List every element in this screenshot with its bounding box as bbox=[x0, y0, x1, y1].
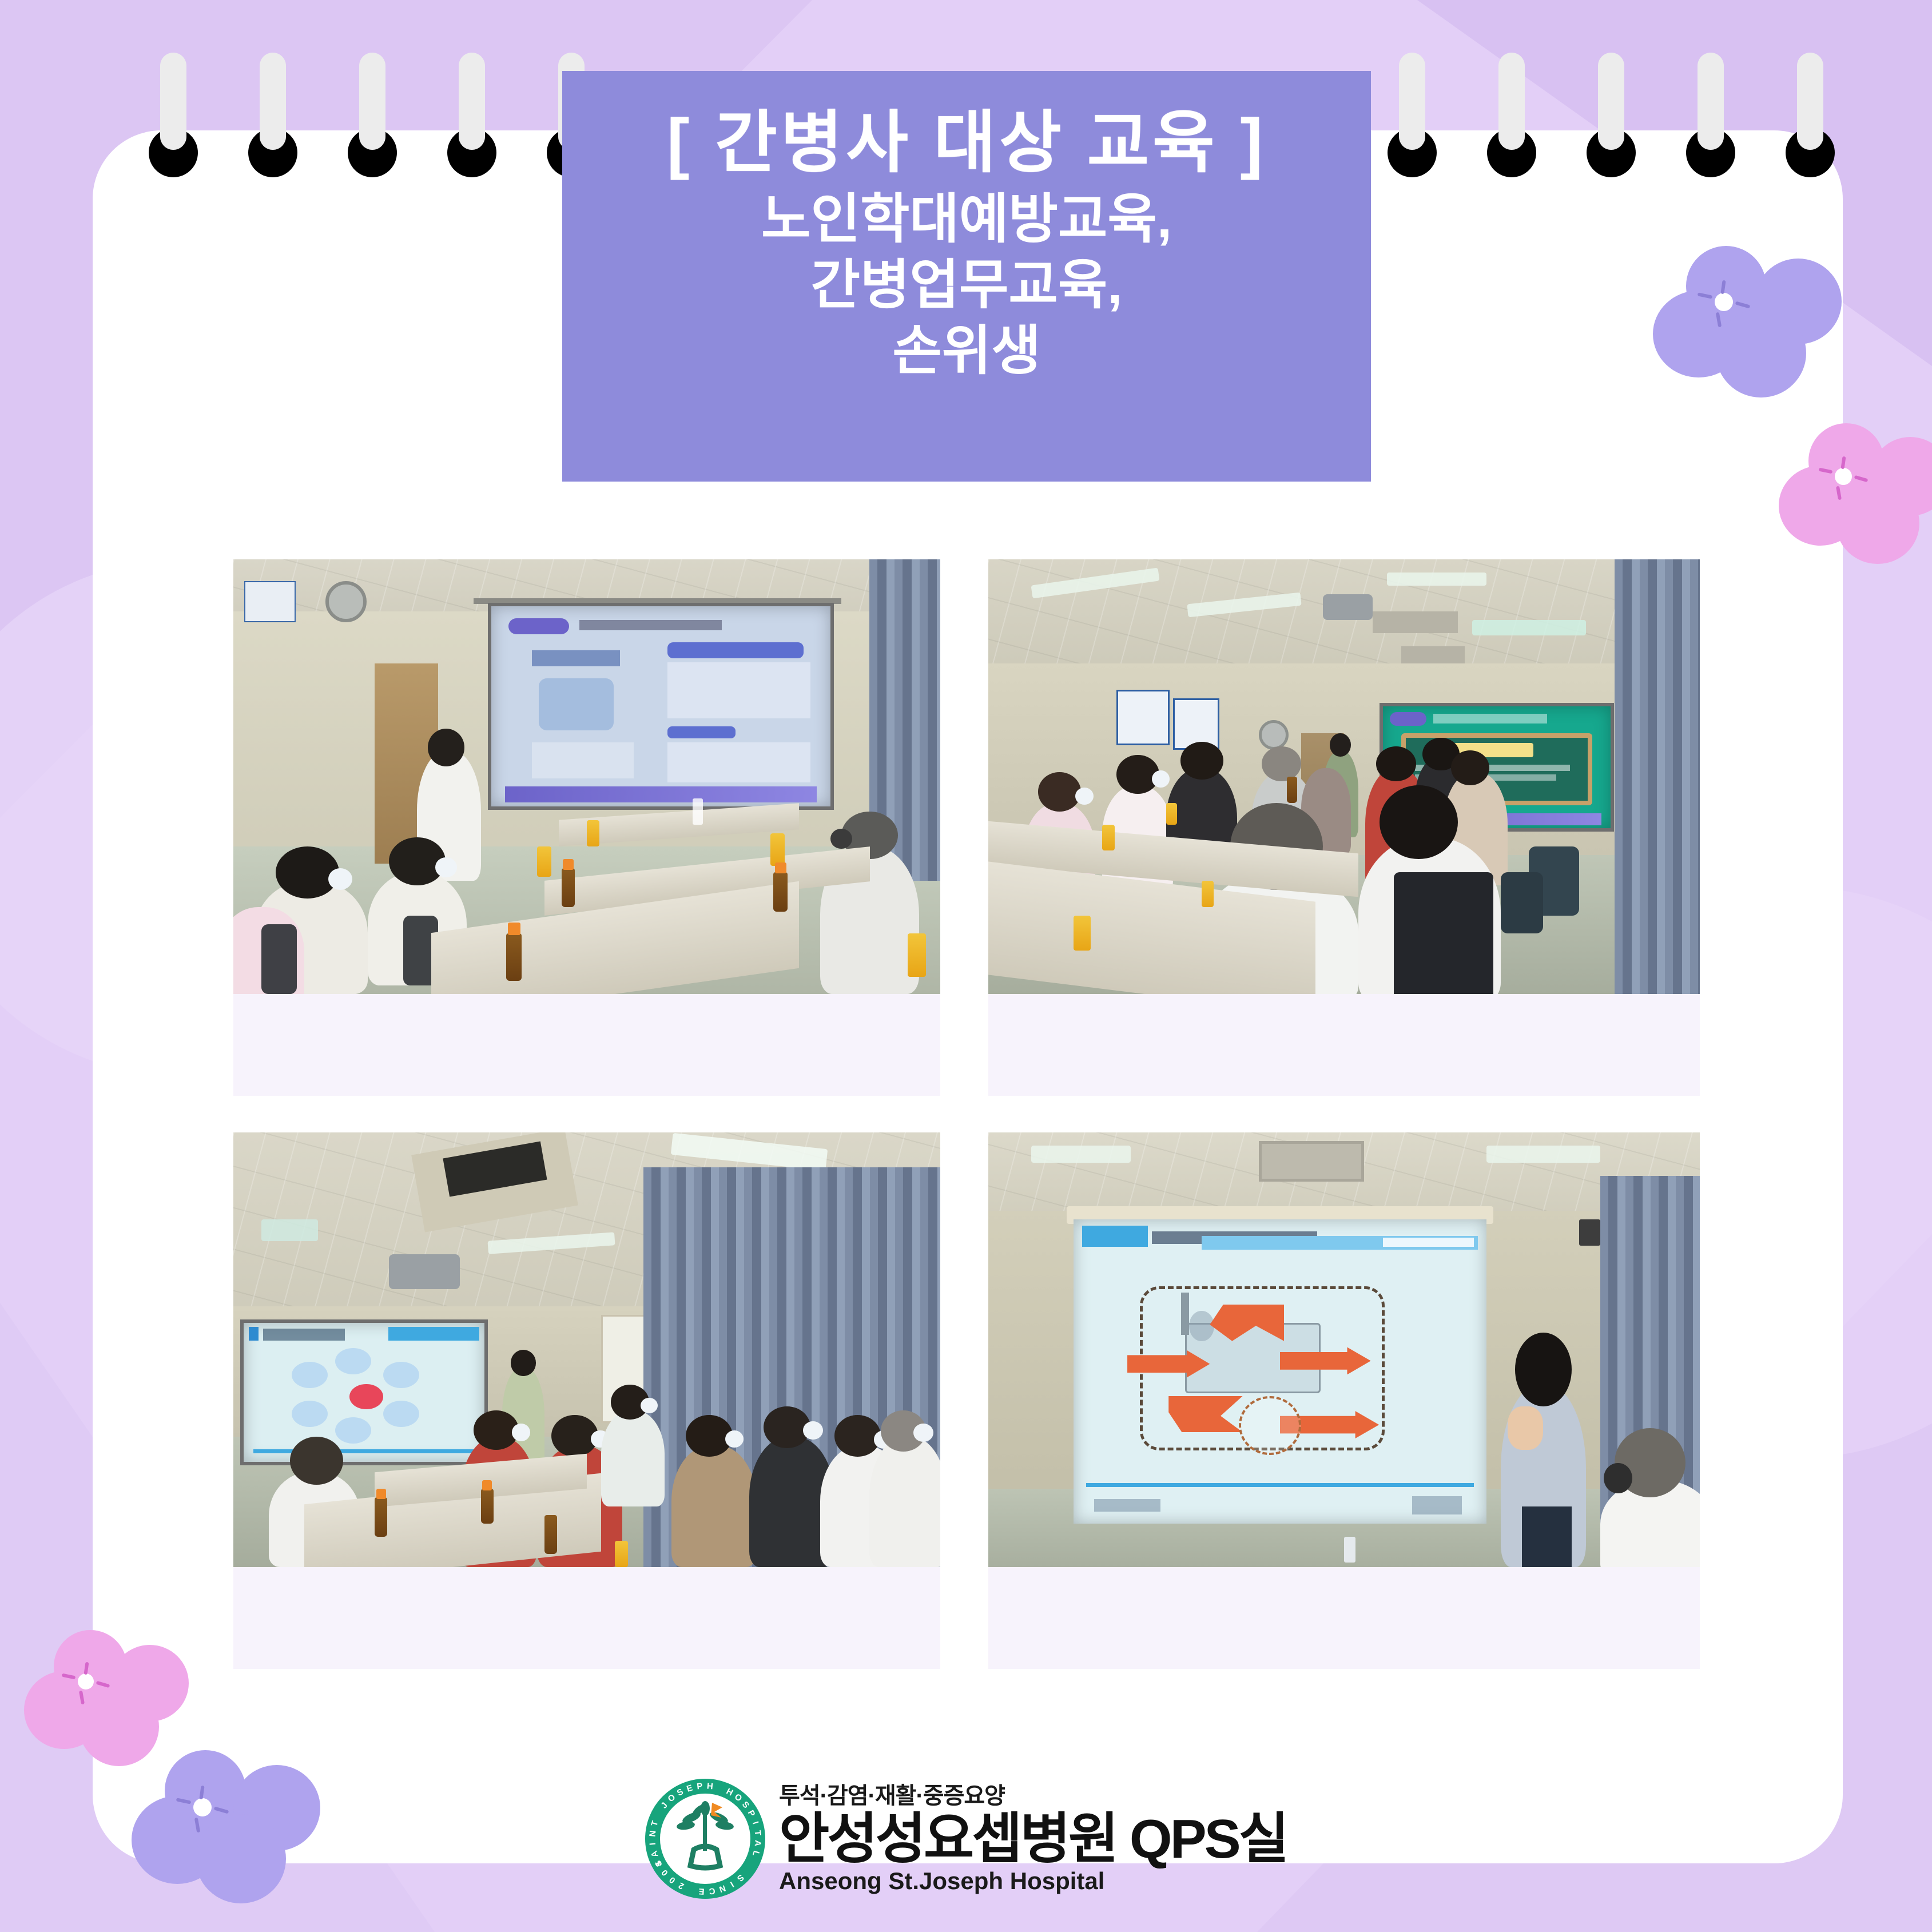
photo-2[interactable] bbox=[988, 559, 1700, 994]
photo-4[interactable] bbox=[988, 1132, 1700, 1567]
emblem-arc-char: C bbox=[709, 1886, 716, 1896]
ring-wire bbox=[459, 53, 485, 150]
emblem-arc-char: 0 bbox=[659, 1867, 670, 1877]
emblem-arc-char: S bbox=[735, 1873, 746, 1883]
ring-wire bbox=[359, 53, 385, 150]
flower-core bbox=[1835, 468, 1852, 485]
footer-hospital-name-en: Anseong St.Joseph Hospital bbox=[779, 1869, 1287, 1893]
title-banner: [ 간병사 대상 교육 ] 노인학대예방교육, 간병업무교육, 손위생 bbox=[562, 71, 1371, 482]
emblem-arc-char: 4 bbox=[654, 1859, 665, 1868]
flower-petal bbox=[1836, 483, 1919, 564]
photo-3-screen bbox=[240, 1319, 487, 1465]
emblem-arc-char: T bbox=[752, 1830, 762, 1836]
banner-subtitle-line-1: 노인학대예방교육, bbox=[761, 186, 1172, 252]
emblem-arc-char: I bbox=[750, 1820, 760, 1826]
ring-wire bbox=[160, 53, 186, 150]
emblem-arc-char: I bbox=[648, 1842, 658, 1846]
poster-root: [ 간병사 대상 교육 ] 노인학대예방교육, 간병업무교육, 손위생 bbox=[0, 0, 1932, 1932]
banner-subtitle: 노인학대예방교육, 간병업무교육, 손위생 bbox=[761, 186, 1172, 383]
emblem-arc-char: N bbox=[718, 1883, 727, 1894]
photo-3[interactable] bbox=[233, 1132, 940, 1567]
emblem-arc-char: P bbox=[697, 1782, 703, 1792]
emblem-arc-char: E bbox=[698, 1886, 705, 1897]
emblem-arc-char: O bbox=[666, 1792, 677, 1804]
ring-wire bbox=[1399, 53, 1425, 150]
photo-4-screen bbox=[1074, 1219, 1486, 1524]
emblem-arc-char: H bbox=[706, 1781, 713, 1791]
emblem-arc-char: J bbox=[659, 1800, 669, 1810]
emblem-arc-char: S bbox=[740, 1800, 751, 1811]
emblem-arc-char: L bbox=[750, 1850, 761, 1858]
banner-subtitle-line-2: 간병업무교육, bbox=[761, 252, 1172, 318]
photo-1-screen bbox=[488, 603, 834, 810]
footer-hospital-name-ko: 안성성요셉병원 QPS실 bbox=[779, 1812, 1287, 1867]
emblem-arc-char: 0 bbox=[667, 1875, 677, 1885]
emblem-arc-char: O bbox=[733, 1792, 744, 1804]
ring-wire bbox=[1698, 53, 1724, 150]
emblem-arc-char: E bbox=[686, 1783, 694, 1794]
flower-petal bbox=[1716, 309, 1806, 397]
emblem-arc-char: P bbox=[746, 1808, 757, 1818]
emblem-arc-char: I bbox=[729, 1879, 736, 1889]
emblem-arc-text: SAINTJOSEPHHOSPITALSINCE2004 bbox=[645, 1779, 765, 1899]
flower-core bbox=[78, 1673, 94, 1689]
ring-wire bbox=[260, 53, 286, 150]
emblem-arc-char: A bbox=[753, 1840, 763, 1847]
banner-title: [ 간병사 대상 교육 ] bbox=[667, 105, 1266, 181]
hospital-emblem-icon: SAINTJOSEPHHOSPITALSINCE2004 bbox=[645, 1779, 765, 1899]
photo-grid bbox=[233, 559, 1700, 1669]
ring-wire bbox=[1797, 53, 1823, 150]
flower-core bbox=[1715, 293, 1733, 311]
footer: SAINTJOSEPHHOSPITALSINCE2004 투석·감염·재활·중증… bbox=[0, 1744, 1932, 1932]
footer-tagline: 투석·감염·재활·중증요양 bbox=[779, 1784, 1287, 1807]
banner-subtitle-line-3: 손위생 bbox=[761, 318, 1172, 384]
emblem-arc-char: H bbox=[725, 1786, 734, 1798]
flower-top-right-purple bbox=[1653, 246, 1842, 423]
ring-wire bbox=[1598, 53, 1624, 150]
photo-1[interactable] bbox=[233, 559, 940, 994]
emblem-arc-char: 2 bbox=[677, 1881, 686, 1891]
emblem-arc-char: S bbox=[675, 1787, 685, 1798]
emblem-arc-char: T bbox=[649, 1820, 660, 1828]
emblem-arc-char: A bbox=[649, 1850, 660, 1858]
emblem-arc-char: N bbox=[647, 1830, 658, 1837]
ring-wire bbox=[1498, 53, 1525, 150]
flower-top-right-pink bbox=[1779, 423, 1932, 589]
